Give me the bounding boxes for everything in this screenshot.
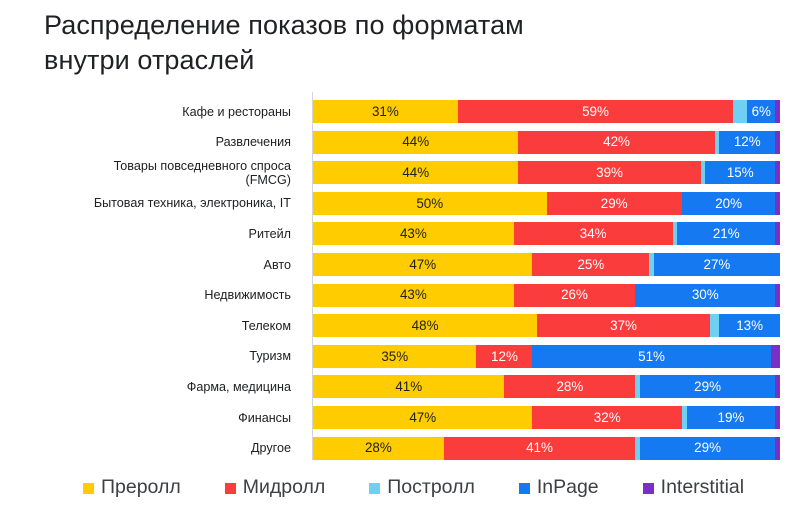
segment-value-label: 32% <box>594 411 621 424</box>
bar-segment-preroll[interactable]: 41% <box>313 375 504 398</box>
bar-track: 44%39%1%15%1% <box>313 161 780 184</box>
bar-segment-preroll[interactable]: 47% <box>313 406 532 429</box>
segment-value-label: 19% <box>718 411 745 424</box>
bar-segment-midroll[interactable]: 59% <box>458 100 734 123</box>
bar-segment-preroll[interactable]: 44% <box>313 161 518 184</box>
category-label: Товары повседневного спроса (FMCG) <box>0 159 291 187</box>
segment-value-label: 13% <box>736 319 763 332</box>
bar-segment-postroll[interactable]: 2% <box>710 314 719 337</box>
segment-value-label: 43% <box>400 227 427 240</box>
segment-value-label: 42% <box>603 135 630 148</box>
segment-value-label: 59% <box>582 105 609 118</box>
segment-value-label: 44% <box>402 166 429 179</box>
bar-track: 43%34%1%21%1% <box>313 222 780 245</box>
segment-value-label: 35% <box>381 350 408 363</box>
segment-value-label: 47% <box>409 258 436 271</box>
bar-segment-interstit[interactable]: 1% <box>775 437 780 460</box>
segment-value-label: 31% <box>372 105 399 118</box>
legend-swatch-icon <box>369 483 380 494</box>
legend-label: Преролл <box>101 478 181 498</box>
bar-track: 47%32%1%19%1% <box>313 406 780 429</box>
legend-label: Interstitial <box>661 478 744 498</box>
bar-segment-midroll[interactable]: 28% <box>504 375 635 398</box>
segment-value-label: 15% <box>727 166 754 179</box>
stacked-bar-chart: Распределение показов по форматам внутри… <box>0 0 800 512</box>
legend-swatch-icon <box>519 483 530 494</box>
bar-row: Авто47%25%1%27% <box>0 249 800 280</box>
bar-segment-interstit[interactable]: 1% <box>775 284 780 307</box>
segment-value-label: 44% <box>402 135 429 148</box>
segment-value-label: 12% <box>734 135 761 148</box>
bar-segment-midroll[interactable]: 26% <box>514 284 635 307</box>
bar-row: Бытовая техника, электроника, IT50%29%20… <box>0 188 800 219</box>
category-label: Ритейл <box>0 227 291 241</box>
segment-value-label: 28% <box>556 380 583 393</box>
category-label: Авто <box>0 257 291 271</box>
bar-row: Товары повседневного спроса (FMCG)44%39%… <box>0 157 800 188</box>
segment-value-label: 48% <box>412 319 439 332</box>
bar-segment-preroll[interactable]: 47% <box>313 253 532 276</box>
category-label: Бытовая техника, электроника, IT <box>0 196 291 210</box>
bar-row: Ритейл43%34%1%21%1% <box>0 218 800 249</box>
bar-segment-preroll[interactable]: 44% <box>313 131 518 154</box>
segment-value-label: 30% <box>692 288 719 301</box>
legend-item-inpage[interactable]: InPage <box>519 478 599 498</box>
bar-segment-preroll[interactable]: 48% <box>313 314 537 337</box>
bar-row: Развлечения44%42%1%12%1% <box>0 127 800 158</box>
segment-value-label: 50% <box>416 197 443 210</box>
legend-label: Мидролл <box>243 478 326 498</box>
segment-value-label: 27% <box>704 258 731 271</box>
bar-segment-inpage[interactable]: 20% <box>682 192 775 215</box>
bar-row: Фарма, медицина41%28%1%29%1% <box>0 371 800 402</box>
bar-track: 47%25%1%27% <box>313 253 780 276</box>
bar-segment-inpage[interactable]: 15% <box>705 161 775 184</box>
bar-segment-midroll[interactable]: 41% <box>444 437 635 460</box>
bar-segment-inpage[interactable]: 29% <box>640 375 775 398</box>
bar-track: 31%59%3%6%1% <box>313 100 780 123</box>
segment-value-label: 41% <box>526 441 553 454</box>
legend-item-midroll[interactable]: Мидролл <box>225 478 326 498</box>
category-label: Финансы <box>0 410 291 424</box>
bar-segment-interstit[interactable]: 1% <box>775 375 780 398</box>
bar-track: 44%42%1%12%1% <box>313 131 780 154</box>
chart-title: Распределение показов по форматам внутри… <box>44 8 744 77</box>
segment-value-label: 29% <box>601 197 628 210</box>
bar-segment-midroll[interactable]: 39% <box>518 161 700 184</box>
legend-item-interstit[interactable]: Interstitial <box>643 478 744 498</box>
category-label: Другое <box>0 441 291 455</box>
legend-item-postroll[interactable]: Постролл <box>369 478 475 498</box>
bar-segment-preroll[interactable]: 28% <box>313 437 444 460</box>
bar-track: 43%26%30%1% <box>313 284 780 307</box>
bar-segment-preroll[interactable]: 35% <box>313 345 476 368</box>
category-label: Развлечения <box>0 135 291 149</box>
bar-row: Другое28%41%1%29%1% <box>0 433 800 464</box>
bar-track: 41%28%1%29%1% <box>313 375 780 398</box>
bar-row: Телеком48%37%2%13% <box>0 310 800 341</box>
segment-value-label: 21% <box>713 227 740 240</box>
segment-value-label: 39% <box>596 166 623 179</box>
bar-segment-postroll[interactable]: 3% <box>733 100 747 123</box>
bar-segment-midroll[interactable]: 29% <box>547 192 682 215</box>
bar-segment-interstit[interactable]: 1% <box>775 131 780 154</box>
segment-value-label: 28% <box>365 441 392 454</box>
segment-value-label: 43% <box>400 288 427 301</box>
bar-segment-interstit[interactable]: 2% <box>771 345 780 368</box>
bar-track: 28%41%1%29%1% <box>313 437 780 460</box>
bar-segment-inpage[interactable]: 12% <box>719 131 775 154</box>
bar-row: Кафе и рестораны31%59%3%6%1% <box>0 96 800 127</box>
bar-segment-interstit[interactable]: 1% <box>775 406 780 429</box>
segment-value-label: 20% <box>715 197 742 210</box>
bar-segment-midroll[interactable]: 12% <box>476 345 532 368</box>
bar-segment-midroll[interactable]: 34% <box>514 222 673 245</box>
bar-segment-inpage[interactable]: 27% <box>654 253 780 276</box>
legend-swatch-icon <box>83 483 94 494</box>
segment-value-label: 51% <box>638 350 665 363</box>
legend-label: InPage <box>537 478 599 498</box>
segment-value-label: 26% <box>561 288 588 301</box>
segment-value-label: 37% <box>610 319 637 332</box>
bar-segment-inpage[interactable]: 30% <box>635 284 775 307</box>
category-label: Кафе и рестораны <box>0 104 291 118</box>
bar-segment-interstit[interactable]: 1% <box>775 192 780 215</box>
bar-segment-interstit[interactable]: 1% <box>775 222 780 245</box>
bar-segment-preroll[interactable]: 50% <box>313 192 547 215</box>
segment-value-label: 34% <box>580 227 607 240</box>
segment-value-label: 29% <box>694 441 721 454</box>
segment-value-label: 41% <box>395 380 422 393</box>
bar-row: Недвижимость43%26%30%1% <box>0 280 800 311</box>
plot-area: Кафе и рестораны31%59%3%6%1%Развлечения4… <box>0 92 800 462</box>
bar-row: Туризм35%12%51%2% <box>0 341 800 372</box>
bar-row: Финансы47%32%1%19%1% <box>0 402 800 433</box>
bar-segment-inpage[interactable]: 6% <box>747 100 775 123</box>
segment-value-label: 29% <box>694 380 721 393</box>
bar-track: 50%29%20%1% <box>313 192 780 215</box>
bar-segment-midroll[interactable]: 32% <box>532 406 681 429</box>
legend-label: Постролл <box>387 478 475 498</box>
bar-segment-inpage[interactable]: 29% <box>640 437 775 460</box>
bar-segment-inpage[interactable]: 13% <box>719 314 780 337</box>
category-label: Фарма, медицина <box>0 380 291 394</box>
bar-segment-preroll[interactable]: 43% <box>313 284 514 307</box>
bar-segment-interstit[interactable]: 1% <box>775 100 780 123</box>
legend-swatch-icon <box>643 483 654 494</box>
category-label: Туризм <box>0 349 291 363</box>
bar-track: 35%12%51%2% <box>313 345 780 368</box>
legend-swatch-icon <box>225 483 236 494</box>
segment-value-label: 47% <box>409 411 436 424</box>
segment-value-label: 12% <box>491 350 518 363</box>
segment-value-label: 6% <box>752 105 771 118</box>
category-label: Недвижимость <box>0 288 291 302</box>
bar-segment-preroll[interactable]: 31% <box>313 100 458 123</box>
bar-segment-midroll[interactable]: 37% <box>537 314 710 337</box>
category-label: Телеком <box>0 319 291 333</box>
bar-segment-midroll[interactable]: 25% <box>532 253 649 276</box>
bar-segment-inpage[interactable]: 19% <box>687 406 776 429</box>
bar-segment-midroll[interactable]: 42% <box>518 131 714 154</box>
segment-value-label: 25% <box>577 258 604 271</box>
bar-segment-interstit[interactable]: 1% <box>775 161 780 184</box>
bar-track: 48%37%2%13% <box>313 314 780 337</box>
bar-segment-inpage[interactable]: 51% <box>532 345 770 368</box>
chart-legend: ПрероллМидроллПостроллInPageInterstitial <box>0 466 800 510</box>
bar-segment-inpage[interactable]: 21% <box>677 222 775 245</box>
bar-segment-preroll[interactable]: 43% <box>313 222 514 245</box>
legend-item-preroll[interactable]: Преролл <box>83 478 181 498</box>
